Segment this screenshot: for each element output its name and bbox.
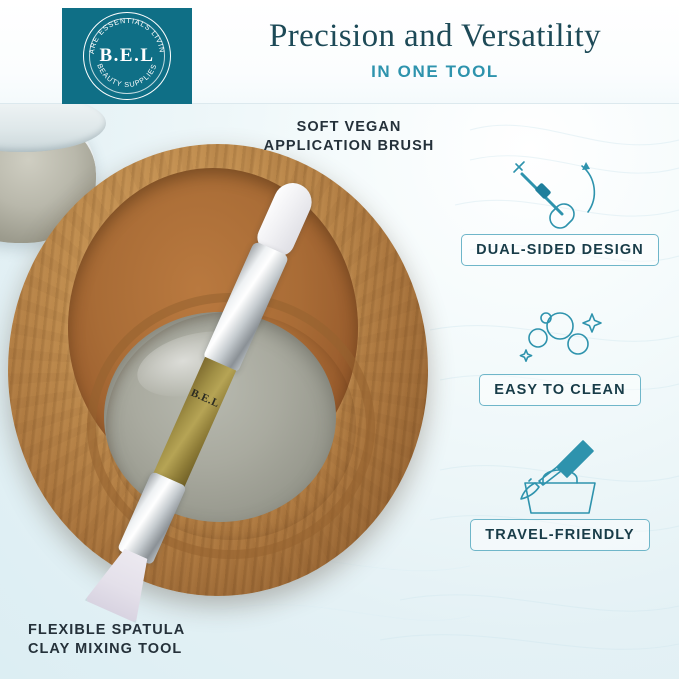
bubbles-sparkle-icon (455, 290, 665, 374)
feature-label-easy-to-clean: EASY TO CLEAN (479, 374, 640, 406)
dual-sided-brush-rotation-icon (455, 150, 665, 234)
page-title: Precision and Versatility (200, 18, 670, 56)
clay-powder-bowl-rim (0, 104, 106, 152)
caption-brush: SOFT VEGAN APPLICATION BRUSH (256, 118, 442, 156)
caption-spatula-line1: FLEXIBLE SPATULA (28, 621, 185, 640)
brand-logo: BARE ESSENTIALS LIVING BEAUTY SUPPLIES B… (62, 8, 192, 104)
caption-brush-line1: SOFT VEGAN (256, 118, 442, 137)
caption-brush-line2: APPLICATION BRUSH (256, 137, 442, 156)
product-infographic: BARE ESSENTIALS LIVING BEAUTY SUPPLIES B… (0, 0, 679, 679)
header-title-block: Precision and Versatility IN ONE TOOL (200, 18, 670, 82)
caption-spatula-line2: CLAY MIXING TOOL (28, 640, 185, 659)
feature-travel-friendly: TRAVEL-FRIENDLY (455, 435, 665, 551)
logo-monogram: B.E.L (99, 45, 154, 67)
logo-circle: BARE ESSENTIALS LIVING BEAUTY SUPPLIES B… (83, 12, 171, 100)
feature-dual-sided-design: DUAL-SIDED DESIGN (455, 150, 665, 266)
caption-spatula: FLEXIBLE SPATULA CLAY MIXING TOOL (28, 621, 185, 659)
brush-in-pouch-icon (455, 435, 665, 519)
feature-label-dual-sided-design: DUAL-SIDED DESIGN (461, 234, 659, 266)
page-subtitle: IN ONE TOOL (200, 62, 670, 82)
feature-label-travel-friendly: TRAVEL-FRIENDLY (470, 519, 649, 551)
feature-easy-to-clean: EASY TO CLEAN (455, 290, 665, 406)
product-photo: B.E.L (0, 104, 470, 679)
